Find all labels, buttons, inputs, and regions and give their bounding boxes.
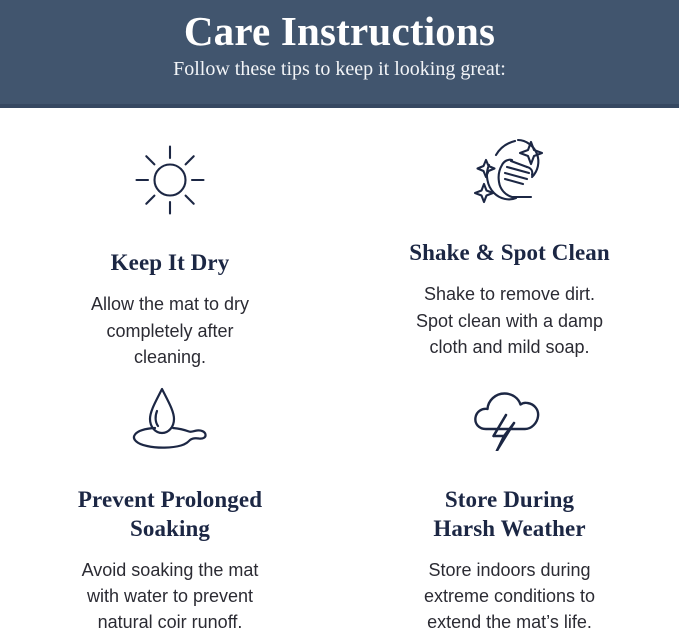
tip-body-line: with water to prevent	[12, 583, 328, 609]
tip-body-line: cleaning.	[12, 344, 328, 370]
tip-body-line: extend the mat’s life.	[352, 609, 667, 635]
hand-wipe-sparkle-icon	[352, 130, 667, 214]
care-instructions-page: Care Instructions Follow these tips to k…	[0, 0, 679, 628]
page-title: Care Instructions	[0, 0, 679, 55]
tip-card-prevent-prolonged-soaking: Prevent Prolonged Soaking Avoid soaking …	[0, 370, 340, 628]
care-tips-grid: Keep It Dry Allow the mat to dry complet…	[0, 108, 679, 628]
tip-body-line: completely after	[12, 318, 328, 344]
tip-title-line: Soaking	[12, 514, 328, 543]
page-header: Care Instructions Follow these tips to k…	[0, 0, 679, 108]
tip-title: Keep It Dry	[12, 248, 328, 277]
tip-body: Allow the mat to dry completely after cl…	[12, 291, 328, 369]
tip-body-line: Shake to remove dirt.	[352, 281, 667, 307]
tip-title: Shake & Spot Clean	[352, 238, 667, 267]
tip-title-line: Store During	[352, 485, 667, 514]
tip-title: Prevent Prolonged Soaking	[12, 485, 328, 544]
tip-card-keep-it-dry: Keep It Dry Allow the mat to dry complet…	[0, 108, 340, 370]
page-subtitle: Follow these tips to keep it looking gre…	[0, 55, 679, 81]
tip-body-line: natural coir runoff.	[12, 609, 328, 635]
tip-card-store-during-harsh-weather: Store During Harsh Weather Store indoors…	[340, 370, 679, 628]
sun-icon	[12, 138, 328, 222]
tip-body-line: cloth and mild soap.	[352, 334, 667, 360]
water-droplet-puddle-icon	[12, 376, 328, 460]
tip-body-line: Spot clean with a damp	[352, 308, 667, 334]
tip-body-line: Avoid soaking the mat	[12, 557, 328, 583]
tip-title-line: Prevent Prolonged	[12, 485, 328, 514]
tip-body: Store indoors during extreme conditions …	[352, 557, 667, 635]
tip-body-line: Allow the mat to dry	[12, 291, 328, 317]
tip-body: Avoid soaking the mat with water to prev…	[12, 557, 328, 635]
tip-title: Store During Harsh Weather	[352, 485, 667, 544]
tip-card-shake-spot-clean: Shake & Spot Clean Shake to remove dirt.…	[340, 108, 679, 370]
tip-body: Shake to remove dirt. Spot clean with a …	[352, 281, 667, 359]
storm-cloud-lightning-icon	[352, 376, 667, 460]
tip-body-line: extreme conditions to	[352, 583, 667, 609]
tip-title-line: Harsh Weather	[352, 514, 667, 543]
tip-body-line: Store indoors during	[352, 557, 667, 583]
